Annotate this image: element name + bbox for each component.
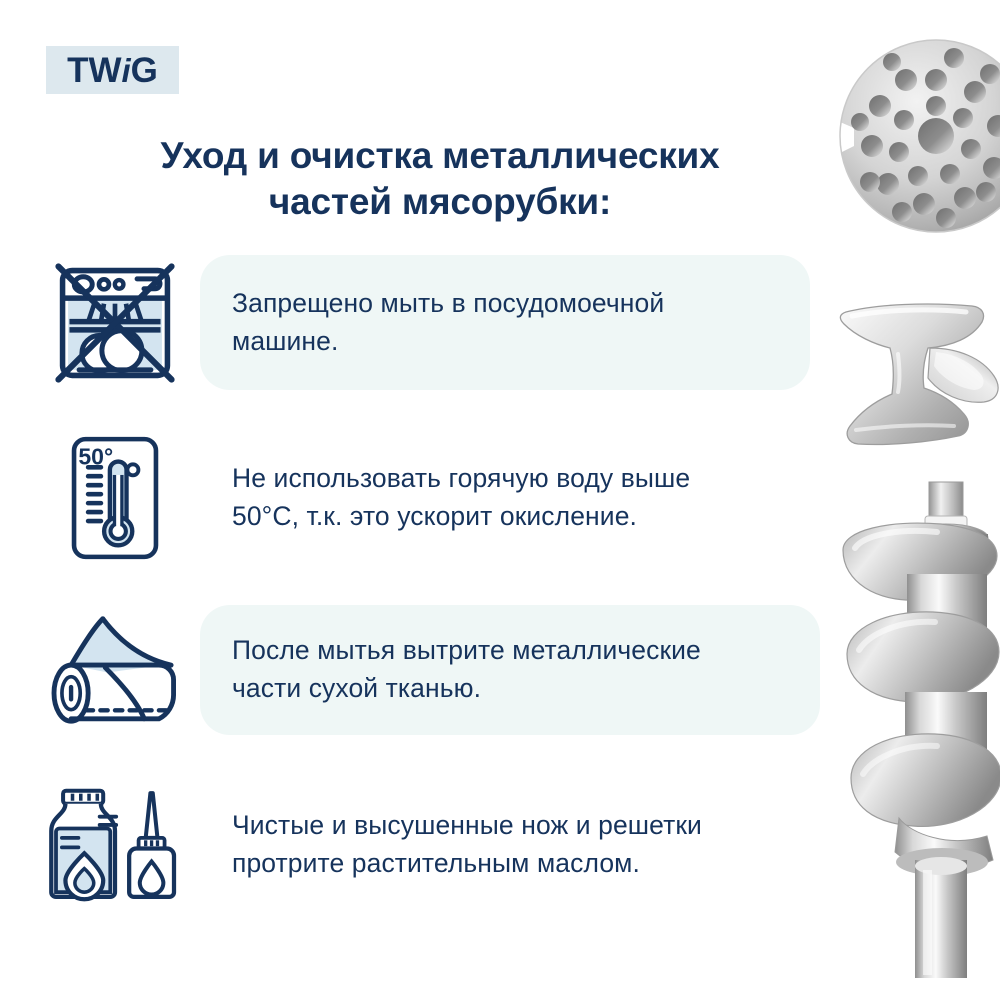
instruction-text: Не использовать горячую воду выше 50°C, … bbox=[232, 460, 690, 535]
brand-logo-g: G bbox=[131, 51, 158, 90]
brand-logo-tw: TW bbox=[67, 51, 121, 90]
grinder-auger-photo bbox=[837, 478, 1000, 978]
instruction-text: Запрещено мыть в посудомоечной машине. bbox=[232, 285, 664, 360]
brand-logo: TWiG bbox=[46, 46, 179, 94]
oil-bottles-icon bbox=[30, 786, 200, 904]
instruction-row: Запрещено мыть в посудомоечной машине. bbox=[30, 250, 850, 395]
instruction-text-line-1: После мытья вытрите металлические bbox=[232, 635, 701, 665]
instruction-text: После мытья вытрите металлические части … bbox=[232, 632, 701, 707]
brand-logo-i: i bbox=[122, 52, 131, 89]
page-title: Уход и очистка металлических частей мясо… bbox=[60, 133, 820, 226]
instruction-card: После мытья вытрите металлические части … bbox=[200, 605, 820, 735]
instruction-text-line-2: протрите растительным маслом. bbox=[232, 848, 640, 878]
instruction-row: Чистые и высушенные нож и решетки протри… bbox=[30, 770, 860, 920]
instruction-text-line-2: части сухой тканью. bbox=[232, 673, 481, 703]
no-dishwasher-icon bbox=[30, 254, 200, 392]
grinder-plate-photo bbox=[832, 22, 1000, 250]
instruction-text-line-2: 50°C, т.к. это ускорит окисление. bbox=[232, 501, 637, 531]
instruction-row: 50° Не исп bbox=[30, 420, 850, 575]
thermometer-50-icon: 50° bbox=[30, 434, 200, 562]
grinder-blade-photo bbox=[828, 292, 1000, 477]
infographic-page: TWiG Уход и очистка металлических частей… bbox=[0, 0, 1000, 1000]
instruction-text-line-2: машине. bbox=[232, 326, 338, 356]
instruction-text: Чистые и высушенные нож и решетки протри… bbox=[232, 807, 702, 882]
instruction-text-line-1: Не использовать горячую воду выше bbox=[232, 463, 690, 493]
page-title-line-1: Уход и очистка металлических bbox=[60, 133, 820, 179]
cloth-roll-icon bbox=[30, 609, 200, 731]
instruction-row: После мытья вытрите металлические части … bbox=[30, 600, 860, 740]
instruction-text-line-1: Чистые и высушенные нож и решетки bbox=[232, 810, 702, 840]
instruction-card: Чистые и высушенные нож и решетки протри… bbox=[200, 780, 825, 910]
instruction-card: Не использовать горячую воду выше 50°C, … bbox=[200, 430, 820, 565]
instruction-card: Запрещено мыть в посудомоечной машине. bbox=[200, 255, 810, 390]
instruction-text-line-1: Запрещено мыть в посудомоечной bbox=[232, 288, 664, 318]
page-title-line-2: частей мясорубки: bbox=[60, 179, 820, 225]
brand-logo-text: TWiG bbox=[67, 53, 158, 88]
